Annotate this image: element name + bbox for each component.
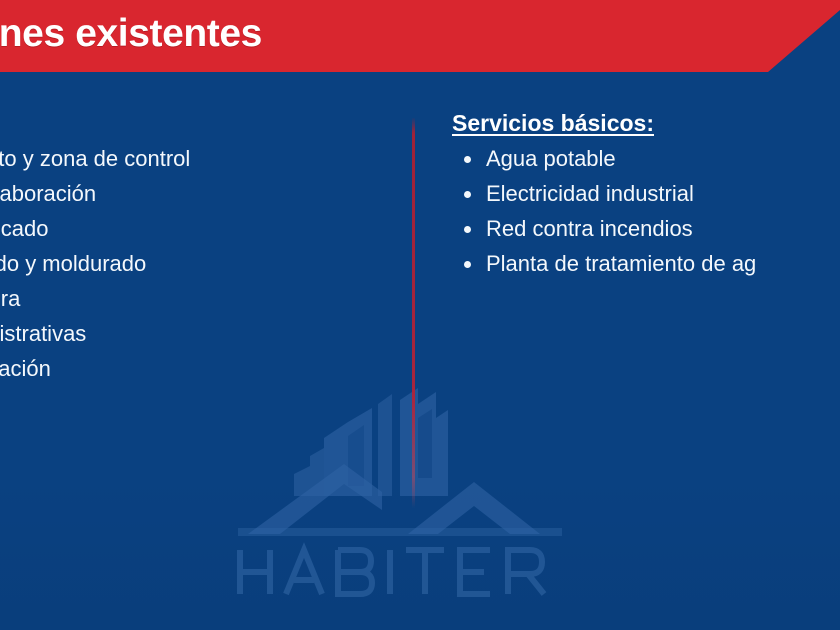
list-item-label: ones de elaboración [0, 181, 96, 206]
list-item: nas administrativas [0, 316, 388, 351]
list-item-label: ta de pintura [0, 286, 20, 311]
list-item: de capacitación [0, 351, 388, 386]
left-column-heading: cciones: [0, 108, 388, 138]
list-item: Red contra incendios [486, 211, 840, 246]
right-column-list: Agua potable Electricidad industrial Red… [452, 141, 840, 281]
list-item: rmería [0, 386, 388, 421]
vertical-accent-divider [412, 118, 415, 508]
list-item-label: Planta de tratamiento de ag [486, 251, 756, 276]
bullet-icon [464, 261, 471, 268]
background-sheen [0, 480, 840, 630]
list-item-label: Agua potable [486, 146, 616, 171]
list-item: ta de pintura [0, 281, 388, 316]
list-item: Agua potable [486, 141, 840, 176]
list-item-label: de capacitación [0, 356, 51, 381]
list-item-label: aras de secado [0, 216, 48, 241]
bullet-icon [464, 156, 471, 163]
list-item: no [0, 421, 388, 456]
list-item-label: Electricidad industrial [486, 181, 694, 206]
page-title: talaciones existentes [0, 9, 838, 59]
list-item-label: s de trozado y moldurado [0, 251, 146, 276]
list-item-label: Red contra incendios [486, 216, 693, 241]
right-content-column: Servicios básicos: Agua potable Electric… [452, 108, 840, 281]
bullet-icon [464, 191, 471, 198]
list-item: ones de elaboración [0, 176, 388, 211]
list-item: Planta de tratamiento de ag [486, 246, 840, 281]
left-content-column: cciones: cionamiento y zona de control o… [0, 108, 388, 456]
list-item: s de trozado y moldurado [0, 246, 388, 281]
slide-canvas: talaciones existentes cciones: cionamien… [0, 0, 840, 630]
list-item: aras de secado [0, 211, 388, 246]
list-item-label: cionamiento y zona de control [0, 146, 190, 171]
left-column-list: cionamiento y zona de control ones de el… [0, 141, 388, 456]
list-item: cionamiento y zona de control [0, 141, 388, 176]
list-item-label: nas administrativas [0, 321, 86, 346]
bullet-icon [464, 226, 471, 233]
list-item: Electricidad industrial [486, 176, 840, 211]
right-column-heading: Servicios básicos: [452, 108, 840, 138]
